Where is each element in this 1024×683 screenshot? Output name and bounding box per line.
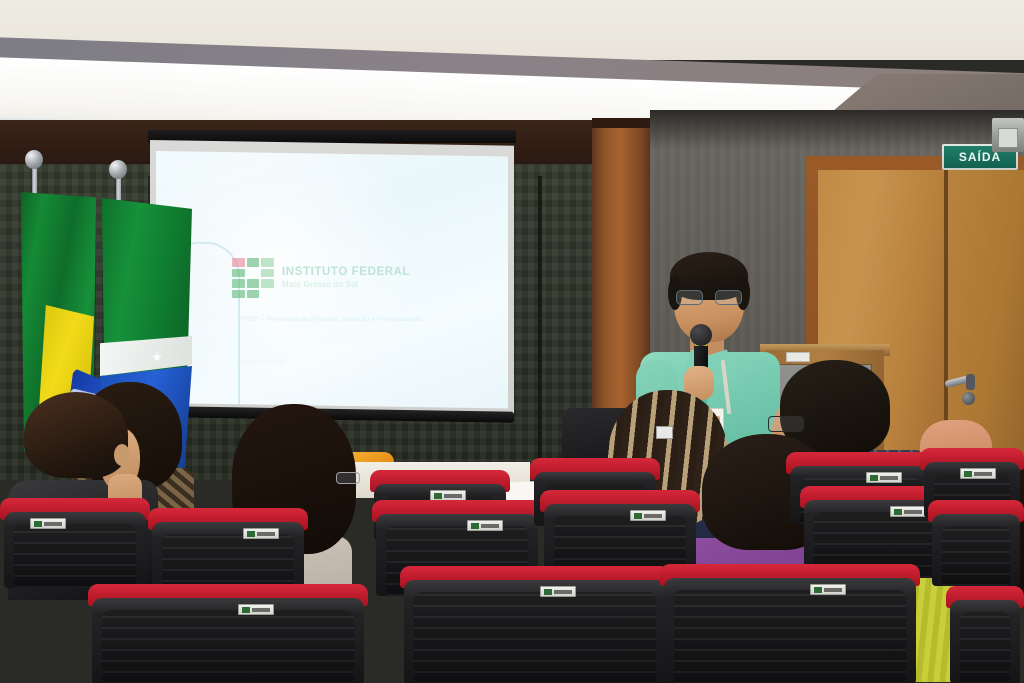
logo-cell-green xyxy=(261,258,274,267)
seat-plate-text xyxy=(444,494,462,498)
seat-number-plate xyxy=(243,528,279,539)
logo-cell-green xyxy=(261,279,274,288)
seat-plate-logo-icon xyxy=(894,509,902,515)
attendee-glasses-icon xyxy=(768,416,804,432)
seat-plate-logo-icon xyxy=(544,589,552,595)
seat-plate-text xyxy=(644,514,662,518)
seat-plate-text xyxy=(257,532,275,536)
seat-plate-text xyxy=(481,524,499,528)
seat-plate-logo-icon xyxy=(814,587,822,593)
auditorium-seat[interactable] xyxy=(88,584,368,683)
seat-plate-logo-icon xyxy=(247,531,255,537)
seat-plate-text xyxy=(44,522,62,526)
slide-institution-unit: Mato Grosso do Sul xyxy=(282,280,502,290)
seat-number-plate xyxy=(30,518,66,529)
logo-cell-green xyxy=(247,279,260,288)
seat-back-shell xyxy=(92,598,364,683)
auditorium-photo: SAÍDA INSTITUTO FEDERAL Mato Grosso do S… xyxy=(0,0,1024,683)
seat-back-shell xyxy=(932,514,1020,586)
auditorium-seat[interactable] xyxy=(946,586,1024,683)
logo-cell-green xyxy=(247,258,260,267)
seat-plate-logo-icon xyxy=(964,471,972,477)
slide-institution-name: INSTITUTO FEDERAL xyxy=(282,266,502,279)
seat-number-plate xyxy=(960,468,996,479)
auditorium-seat[interactable] xyxy=(660,564,920,683)
seat-plate-logo-icon xyxy=(471,523,479,529)
seat-back-ribbed-pad xyxy=(674,590,906,683)
auditorium-seat[interactable] xyxy=(928,500,1024,586)
auditorium-seat[interactable] xyxy=(400,566,670,683)
door-handle-base xyxy=(966,374,975,390)
microphone-head-icon xyxy=(690,324,712,346)
attendee-ear xyxy=(114,444,130,466)
auditorium-seat[interactable] xyxy=(0,498,150,588)
glasses-lens-left xyxy=(676,290,703,305)
seat-plate-text xyxy=(824,588,842,592)
seat-plate-logo-icon xyxy=(34,521,42,527)
slide-url-line: propi.ifms.edu.br xyxy=(238,360,378,366)
logo-cell-green xyxy=(247,290,260,299)
seat-plate-logo-icon xyxy=(242,607,250,613)
acoustic-panel-seam xyxy=(538,176,542,476)
seat-back-shell xyxy=(4,512,146,588)
presenter-glasses-icon xyxy=(676,290,742,304)
logo-cell-green xyxy=(232,290,245,299)
seat-plate-text xyxy=(554,590,572,594)
logo-cell-green xyxy=(232,279,245,288)
seat-plate-text xyxy=(974,472,992,476)
seat-back-shell xyxy=(664,578,916,683)
seat-number-plate xyxy=(810,584,846,595)
seat-number-plate xyxy=(630,510,666,521)
logo-cell-accent xyxy=(232,258,245,267)
seat-plate-text xyxy=(252,608,270,612)
seat-number-plate xyxy=(238,604,274,615)
instituto-federal-logo-icon xyxy=(232,258,274,298)
logo-cell-blank xyxy=(261,290,274,299)
attendee-glasses-icon xyxy=(336,472,360,484)
seat-number-plate xyxy=(467,520,503,531)
seat-back-ribbed-pad xyxy=(102,610,354,683)
wall-device-face xyxy=(998,128,1018,148)
seat-plate-text xyxy=(880,476,898,480)
seat-plate-logo-icon xyxy=(634,513,642,519)
seat-back-ribbed-pad xyxy=(942,526,1010,586)
logo-cell-green xyxy=(232,269,245,278)
seat-back-ribbed-pad xyxy=(14,524,136,588)
seat-back-ribbed-pad xyxy=(414,592,656,683)
flagpole-finial-icon xyxy=(109,160,127,179)
seat-number-plate xyxy=(866,472,902,483)
hair-clip-icon xyxy=(656,426,673,439)
flagpole-finial-icon xyxy=(25,150,43,169)
slide-department-line: PROPI – Pró-reitoria de Pesquisa, Inovaç… xyxy=(238,316,458,323)
slide-title-block: INSTITUTO FEDERAL Mato Grosso do Sul xyxy=(282,266,502,289)
glasses-lens-right xyxy=(715,290,742,305)
seat-plate-logo-icon xyxy=(870,475,878,481)
exit-sign-label: SAÍDA xyxy=(959,151,1001,163)
door-lock-cylinder[interactable] xyxy=(962,392,975,405)
logo-cell-green xyxy=(261,269,274,278)
seat-back-shell xyxy=(404,580,666,683)
attendee-hair xyxy=(24,392,128,478)
seat-plate-logo-icon xyxy=(434,493,442,499)
seat-number-plate xyxy=(540,586,576,597)
seat-back-ribbed-pad xyxy=(960,612,1010,683)
logo-cell-blank xyxy=(247,269,260,278)
seat-back-shell xyxy=(950,600,1020,683)
